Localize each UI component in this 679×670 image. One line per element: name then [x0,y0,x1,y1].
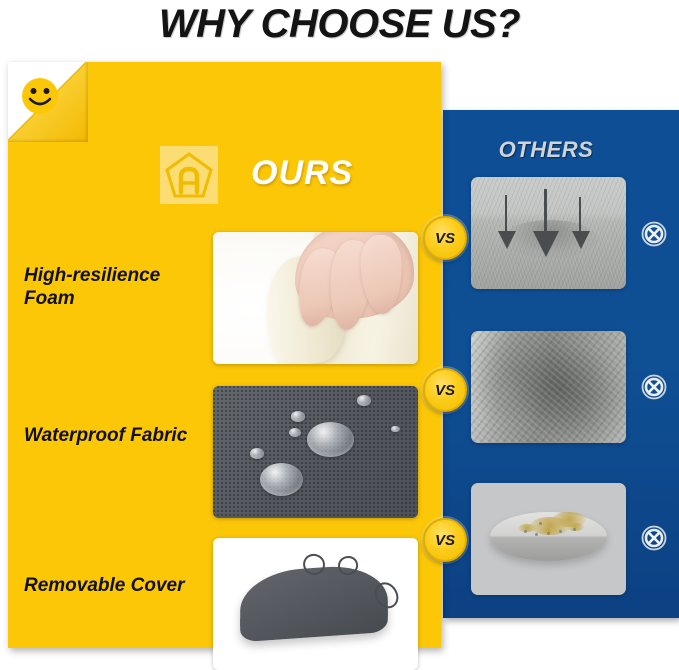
others-image-wet-fabric [471,331,626,443]
page-title: WHY CHOOSE US? [0,2,679,47]
ours-image-waterproof-fabric [213,386,418,518]
feature-label-removable-cover: Removable Cover [24,575,209,598]
others-image-sagging-foam [471,177,626,289]
others-image-stained-cushion [471,483,626,595]
vs-badge-row-2: VS [423,368,467,412]
feature-label-high-resilience-foam: High-resilience Foam [24,265,209,311]
circle-x-icon [640,524,668,552]
smiley-face-icon [20,76,60,116]
vs-badge-row-3: VS [423,518,467,562]
ours-header-label: OURS [251,154,353,193]
circle-x-icon [640,220,668,248]
others-panel: OTHERS [443,110,679,618]
ours-image-removable-cover [213,538,418,670]
others-header-label: OTHERS [443,137,649,163]
feature-label-waterproof-fabric: Waterproof Fabric [24,425,209,448]
vs-badge-row-1: VS [423,216,467,260]
circle-x-icon [640,373,668,401]
comparison-infographic: WHY CHOOSE US? OTHERS [0,0,679,662]
ours-image-foam [213,232,418,364]
ours-panel: OURS High-resilience Foam Waterproof Fab… [8,62,441,648]
house-pentagon-logo-icon [160,146,218,204]
